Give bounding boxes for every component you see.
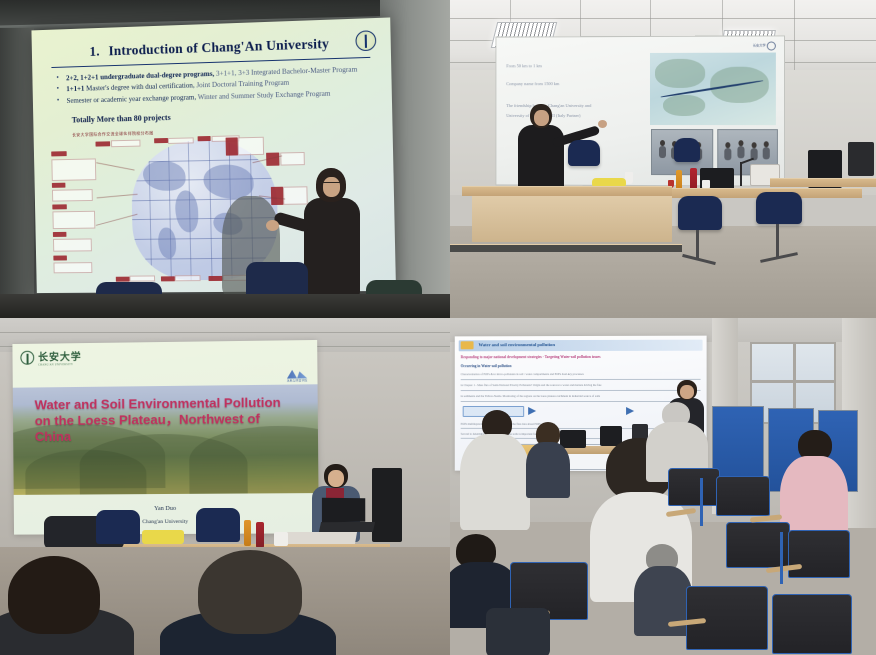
- projection-screen: 长安大学 CHANG'AN UNIVERSITY 水利与环境学院 Water a…: [12, 340, 318, 535]
- partner-logo-text: 水利与环境学院: [287, 378, 308, 382]
- presenter-face: [328, 470, 344, 487]
- paper-cup: [625, 172, 633, 184]
- audience-person: [526, 422, 570, 496]
- presenter-hand: [266, 220, 279, 231]
- slide-line: Company name from 1500 km: [506, 81, 559, 86]
- desktop-tower: [848, 142, 874, 176]
- bullet-rest: Master's degree with dual certification,: [86, 82, 195, 93]
- red-bottle: [256, 522, 264, 548]
- presenter-face: [680, 385, 694, 399]
- title-line-2: on the Loess Plateau，Northwest of China: [35, 411, 299, 446]
- desktop-tower: [372, 468, 402, 542]
- office-chair: [678, 196, 722, 230]
- wooden-desk: [462, 186, 672, 196]
- partner-logo-icon: [287, 368, 307, 378]
- chair-post: [696, 230, 699, 260]
- photo-collage: 1.Introduction of Chang'An University 2+…: [0, 0, 876, 655]
- presentation-title: Water and Soil Environmental Pollution o…: [35, 395, 299, 446]
- desk-shadow: [450, 244, 682, 252]
- slide-header-bar: Water and soil environmental pollution: [459, 340, 703, 352]
- bullet-rest: Semester or academic year exchange progr…: [66, 93, 196, 105]
- logo-cn-text: 长安大学: [38, 348, 82, 363]
- keyboard-tray: [285, 532, 357, 544]
- office-chair: [96, 510, 140, 544]
- slide-number: 1.: [89, 44, 100, 59]
- presenter-face: [534, 110, 549, 126]
- partner-logo: 水利与环境学院: [287, 368, 308, 382]
- office-chair: [568, 140, 600, 166]
- audience-bag: [486, 608, 550, 655]
- route-map-figure: [650, 53, 776, 126]
- slide-line: in Chapter 1 - Mass flux of Semi-Nationa…: [461, 383, 602, 387]
- arrow-icon: [626, 407, 634, 415]
- audience-person: [460, 410, 530, 528]
- audience-head: [8, 556, 100, 634]
- seat-frame: [700, 478, 703, 526]
- panel-bottom-left: 长安大学 CHANG'AN UNIVERSITY 水利与环境学院 Water a…: [0, 318, 450, 655]
- bullet-strong: 1+1+1: [66, 85, 84, 93]
- university-seal-icon: [20, 351, 34, 365]
- wall-left: [0, 28, 34, 318]
- crest-label: 长安大学: [753, 42, 766, 47]
- lecture-seat: [772, 594, 852, 654]
- callout-text: [544, 406, 622, 417]
- wooden-desk: [770, 178, 876, 187]
- bullet-faint: Joint Doctoral Training Program: [196, 79, 289, 90]
- presenter-hand: [598, 120, 607, 128]
- office-chair: [756, 192, 802, 224]
- juice-bottle: [244, 520, 251, 546]
- university-crest-icon: [767, 41, 776, 50]
- lecture-seat: [788, 530, 850, 578]
- panel-top-left: 1.Introduction of Chang'An University 2+…: [0, 0, 450, 318]
- presenter-face: [323, 177, 340, 197]
- slide-header-text: Water and soil environmental pollution: [479, 342, 555, 347]
- bullet-faint: Winter and Summer Study Exchange Program: [198, 90, 331, 102]
- slide-line: Characterization of POPs &/or micro-poll…: [461, 372, 584, 376]
- slide-bullet-list: 2+2, 1+2+1 undergraduate dual-degree pro…: [55, 64, 385, 108]
- presenter-body: [304, 198, 360, 296]
- microphone: [740, 162, 742, 186]
- slide-line: in sediments and the Yellow-Nestle. Moni…: [461, 394, 600, 398]
- laptop-screen: [322, 498, 365, 522]
- laptop: [319, 522, 375, 532]
- office-chair: [196, 508, 240, 542]
- lecture-seat: [668, 468, 720, 506]
- desk-front-panel: [472, 196, 672, 242]
- cup: [274, 532, 288, 546]
- slide-line: Responding to major national development…: [461, 355, 601, 359]
- office-chair: [674, 138, 700, 162]
- panel-top-right: 长安大学 From 50 km to 1 km Company name fro…: [450, 0, 876, 318]
- slide-title-text: Introduction of Chang'An University: [108, 36, 329, 58]
- slide-line: Occurring in Water-soil pollution: [461, 364, 512, 368]
- seat-frame: [780, 532, 783, 584]
- logo-en-text: CHANG'AN UNIVERSITY: [38, 363, 82, 367]
- audience-head: [198, 550, 302, 634]
- audience-person: [646, 402, 708, 478]
- slide-badge-icon: [461, 341, 474, 349]
- yellow-bag: [142, 530, 184, 544]
- university-logo: 长安大学 CHANG'AN UNIVERSITY: [20, 348, 81, 367]
- presenter-body: [518, 125, 564, 195]
- slide-line: From 50 km to 1 km: [506, 63, 542, 68]
- bullet-rest: undergraduate dual-degree programs,: [100, 70, 214, 81]
- hero-landscape-image: Water and Soil Environmental Pollution o…: [13, 384, 319, 495]
- glasses-icon: [323, 182, 340, 186]
- chair-post: [776, 224, 779, 258]
- bullet-strong: 2+2, 1+2+1: [66, 73, 99, 82]
- author-name: Yan Duo: [14, 501, 319, 517]
- panel-bottom-right: Water and soil environmental pollution R…: [450, 318, 876, 655]
- slide-summary: Totally More than 80 projects: [72, 113, 171, 124]
- lecture-seat: [716, 476, 770, 516]
- desk-foreground: [0, 294, 450, 318]
